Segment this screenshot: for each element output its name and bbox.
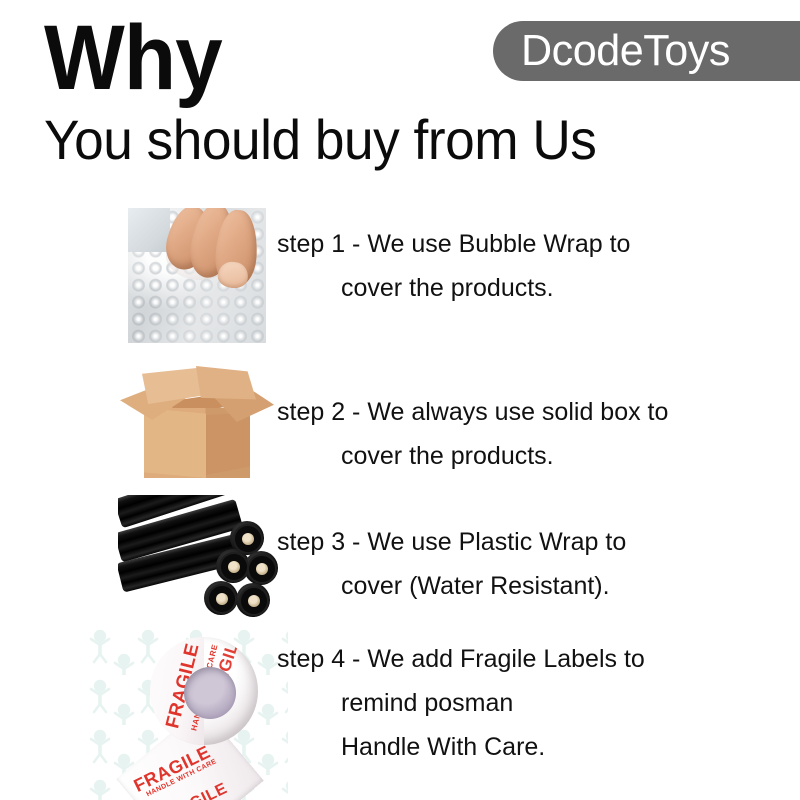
wrap-roll-core-1: [242, 533, 254, 545]
wrap-roll-core-4: [216, 593, 228, 605]
step-1-line-1: step 1 - We use Bubble Wrap to: [277, 222, 630, 266]
step-4-line-3: Handle With Care.: [277, 725, 645, 769]
promo-banner: DcodeToys Why You should buy from Us ste…: [0, 0, 800, 800]
page-title: Why: [44, 12, 222, 104]
step-2-line-2: cover the products.: [277, 434, 668, 478]
hand-illustration: [162, 208, 266, 300]
step-4-text: step 4 - We add Fragile Labels to remind…: [277, 637, 645, 769]
step-3-text: step 3 - We use Plastic Wrap to cover (W…: [277, 520, 626, 608]
bubble-wrap-photo: [128, 208, 266, 343]
step-2-line-1: step 2 - We always use solid box to: [277, 390, 668, 434]
step-2-text: step 2 - We always use solid box to cove…: [277, 390, 668, 478]
page-subtitle: You should buy from Us: [44, 112, 596, 168]
brand-name: DcodeToys: [521, 29, 730, 73]
wrap-roll-core-5: [248, 595, 260, 607]
step-1-text: step 1 - We use Bubble Wrap to cover the…: [277, 222, 630, 310]
cardboard-box-illustration: [118, 360, 278, 485]
brand-badge: DcodeToys: [493, 21, 800, 81]
tape-roll-hole: [184, 667, 236, 719]
wrap-roll-core-3: [256, 563, 268, 575]
box-side-panel: [206, 413, 250, 475]
wrap-roll-core-2: [228, 561, 240, 573]
tape-roll: FRAGILE HANDLE WITH CARE FRAGILE: [150, 637, 258, 745]
step-3-line-2: cover (Water Resistant).: [277, 564, 626, 608]
step-4-line-1: step 4 - We add Fragile Labels to: [277, 637, 645, 681]
step-4-line-2: remind posman: [277, 681, 645, 725]
step-3-line-1: step 3 - We use Plastic Wrap to: [277, 520, 626, 564]
fragile-tape-photo: FRAGILE HANDLE WITH CARE FRAGILE FRAGILE…: [88, 625, 288, 800]
step-1-line-2: cover the products.: [277, 266, 630, 310]
plastic-wrap-rolls-photo: [118, 495, 286, 617]
